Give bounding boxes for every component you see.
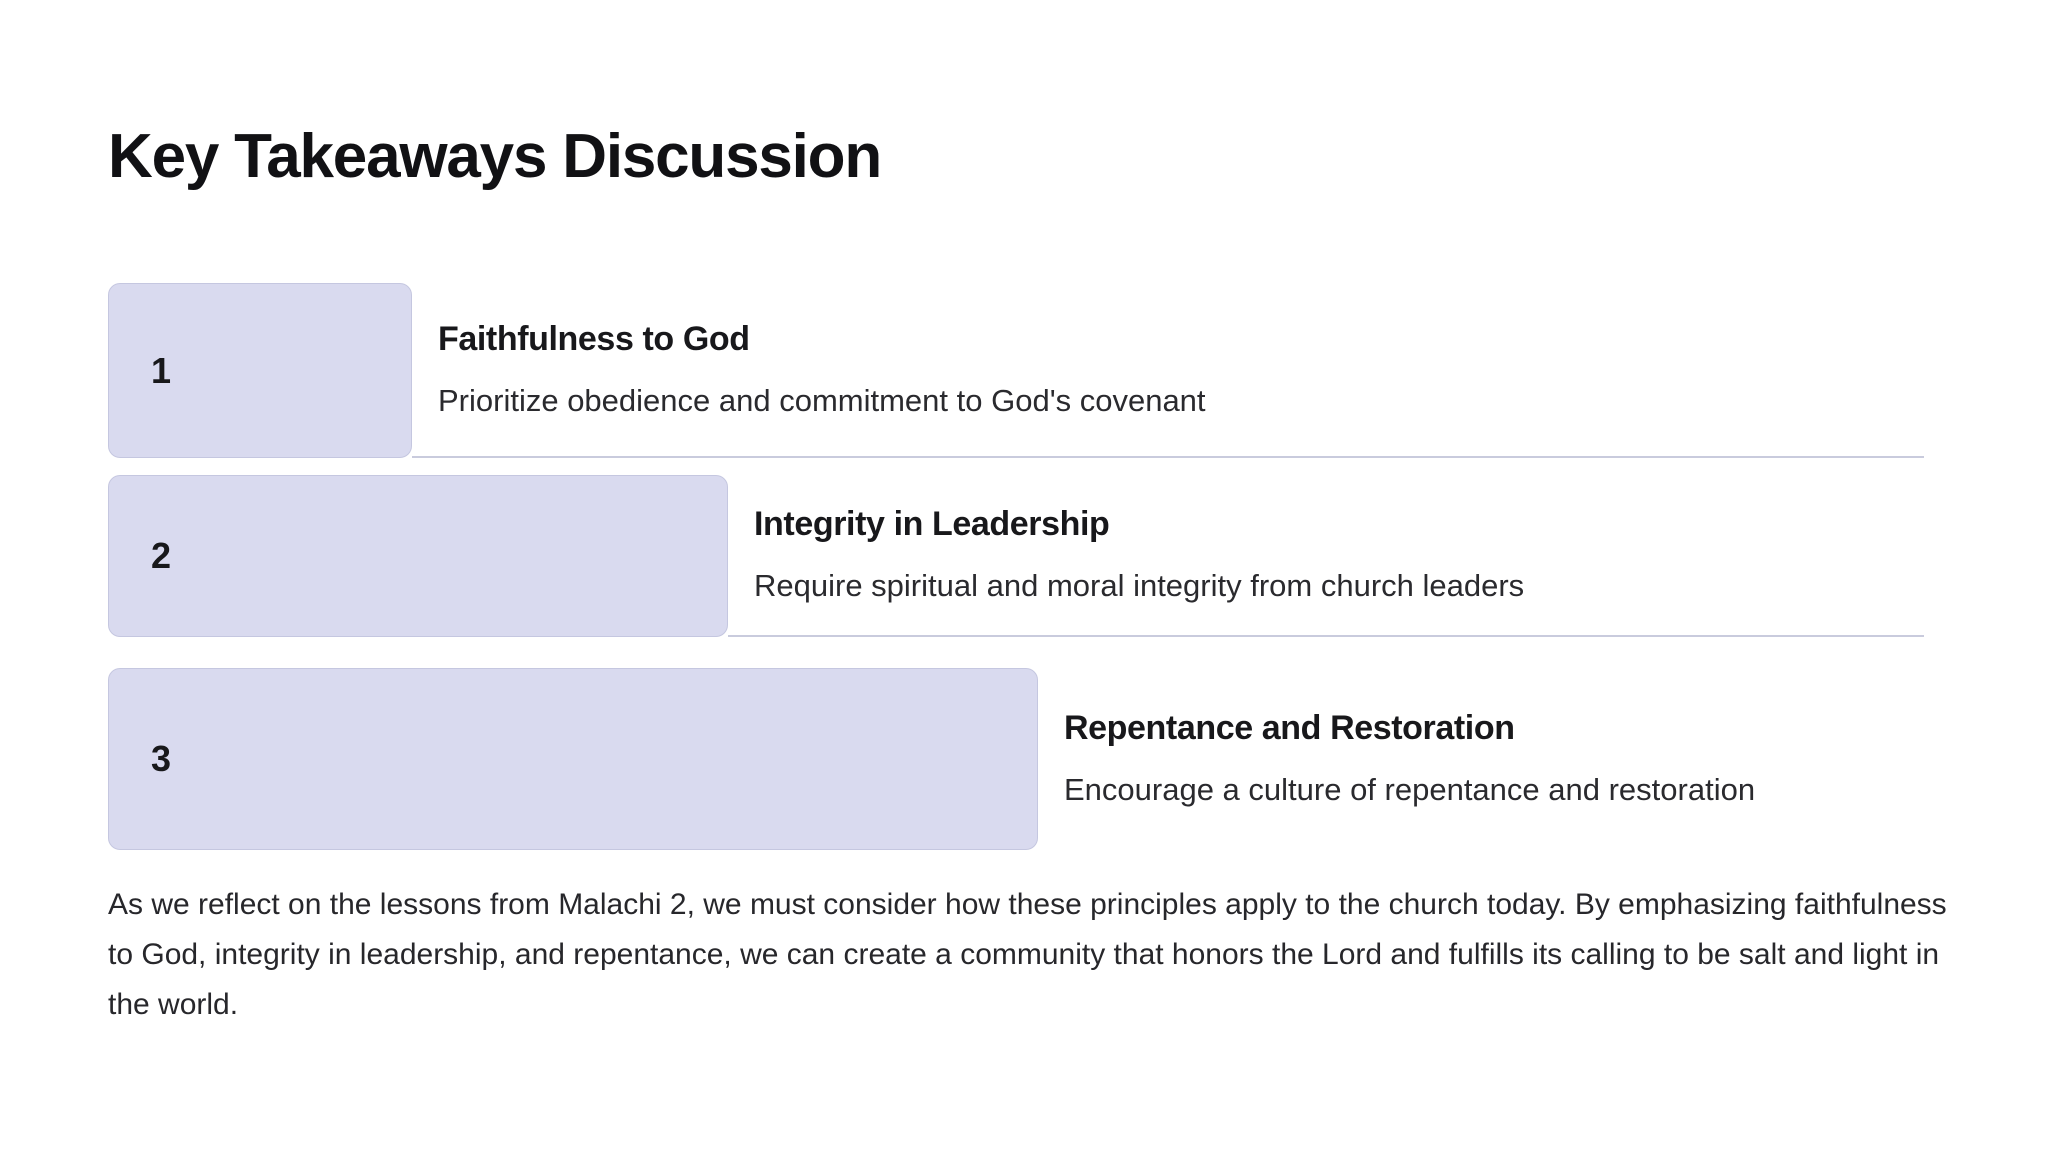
takeaway-content: Faithfulness to God Prioritize obedience…: [412, 283, 1924, 458]
page-title: Key Takeaways Discussion: [108, 124, 881, 191]
slide-root: Key Takeaways Discussion 1 Faithfulness …: [0, 0, 2048, 1152]
takeaway-title: Faithfulness to God: [438, 319, 1916, 360]
takeaway-number: 1: [109, 353, 171, 389]
takeaway-number-box: 2: [108, 475, 728, 637]
takeaway-number-box: 3: [108, 668, 1038, 850]
takeaway-description: Require spiritual and moral integrity fr…: [754, 567, 1916, 606]
takeaway-number: 2: [109, 538, 171, 574]
takeaway-title: Integrity in Leadership: [754, 504, 1916, 545]
takeaway-title: Repentance and Restoration: [1064, 708, 1916, 749]
takeaway-description: Prioritize obedience and commitment to G…: [438, 382, 1916, 421]
closing-paragraph: As we reflect on the lessons from Malach…: [108, 880, 1958, 1030]
takeaway-row[interactable]: 2 Integrity in Leadership Require spirit…: [108, 475, 1924, 637]
takeaway-row[interactable]: 3 Repentance and Restoration Encourage a…: [108, 668, 1924, 850]
takeaway-content: Repentance and Restoration Encourage a c…: [1038, 668, 1924, 850]
takeaway-number-box: 1: [108, 283, 412, 458]
takeaway-content: Integrity in Leadership Require spiritua…: [728, 475, 1924, 637]
takeaway-description: Encourage a culture of repentance and re…: [1064, 771, 1916, 810]
takeaways-list: 1 Faithfulness to God Prioritize obedien…: [108, 283, 1924, 850]
takeaway-number: 3: [109, 741, 171, 777]
takeaway-row[interactable]: 1 Faithfulness to God Prioritize obedien…: [108, 283, 1924, 458]
